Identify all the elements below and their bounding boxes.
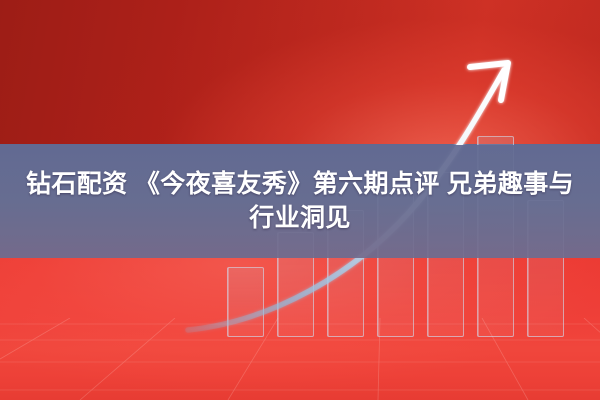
page-title-line-1: 钻石配资 《今夜喜友秀》第六期点评 兄弟趣事与 <box>26 167 574 203</box>
chart-bar <box>227 267 264 337</box>
title-overlay: 钻石配资 《今夜喜友秀》第六期点评 兄弟趣事与 行业洞见 <box>0 145 600 258</box>
page-title-line-2: 行业洞见 <box>249 201 351 237</box>
banner-image: 钻石配资 《今夜喜友秀》第六期点评 兄弟趣事与 行业洞见 <box>0 0 600 400</box>
